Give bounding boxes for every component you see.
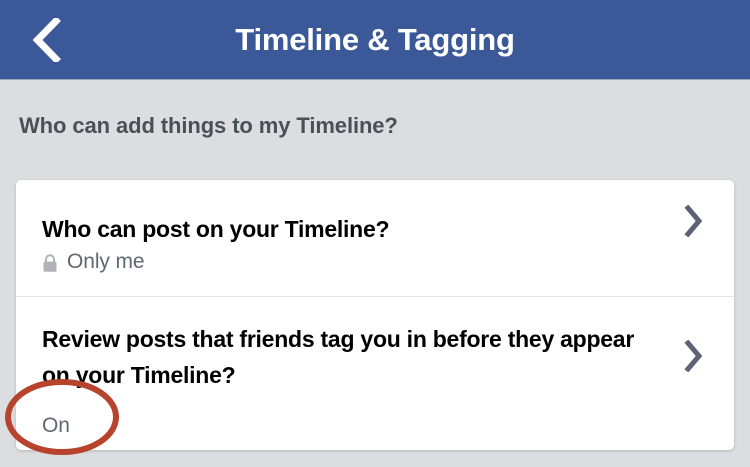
row-value-text: Only me: [67, 250, 145, 274]
settings-card: Who can post on your Timeline? Only me R…: [16, 180, 734, 450]
settings-screen: Timeline & Tagging Who can add things to…: [0, 0, 750, 467]
row-title: Review posts that friends tag you in bef…: [42, 321, 662, 393]
chevron-right-icon[interactable]: [676, 204, 710, 238]
settings-row-review-posts[interactable]: Review posts that friends tag you in bef…: [16, 297, 734, 449]
row-title: Who can post on your Timeline?: [42, 211, 662, 247]
settings-row-who-can-post[interactable]: Who can post on your Timeline? Only me: [16, 180, 734, 296]
app-header: Timeline & Tagging: [0, 0, 750, 80]
page-title: Timeline & Tagging: [0, 0, 750, 79]
row-value-text: On: [42, 414, 70, 438]
section-heading: Who can add things to my Timeline?: [19, 113, 398, 139]
row-value: On: [42, 414, 70, 438]
row-value: Only me: [42, 250, 145, 274]
lock-icon: [42, 254, 58, 273]
chevron-right-icon[interactable]: [676, 339, 710, 373]
